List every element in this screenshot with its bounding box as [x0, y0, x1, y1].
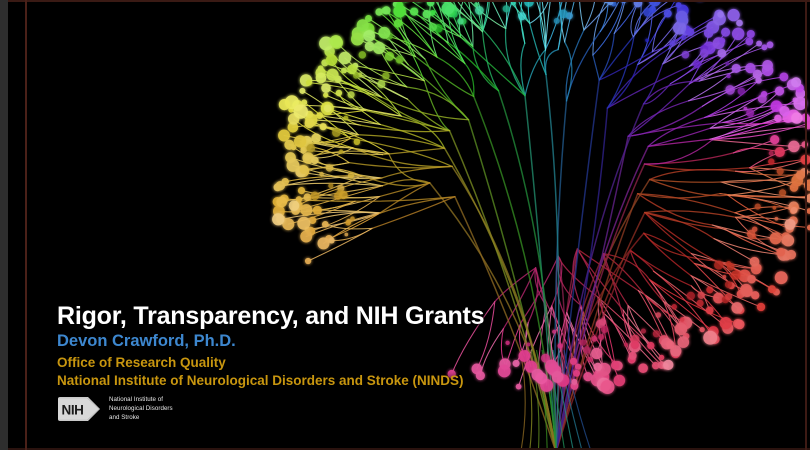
agency-line-1: National Institute of: [109, 396, 173, 405]
page-title: Rigor, Transparency, and NIH Grants: [57, 303, 484, 330]
presenter-name: Devon Crawford, Ph.D.: [57, 332, 484, 351]
nih-logo-icon: NIH: [58, 397, 102, 421]
svg-text:NIH: NIH: [61, 402, 83, 417]
slide-border-left: [25, 0, 27, 450]
affiliation-line-institute: National Institute of Neurological Disor…: [57, 372, 484, 390]
slide-border-right: [805, 0, 807, 450]
presentation-slide: Rigor, Transparency, and NIH Grants Devo…: [0, 0, 810, 450]
window-left-gutter: [0, 0, 8, 450]
nih-logo-lockup: NIH National Institute of Neurological D…: [58, 396, 173, 422]
nih-agency-name: National Institute of Neurological Disor…: [109, 396, 173, 422]
affiliation-line-office: Office of Research Quality: [57, 354, 484, 372]
slide-border-top: [8, 0, 810, 2]
title-block: Rigor, Transparency, and NIH Grants Devo…: [57, 303, 484, 389]
agency-line-3: and Stroke: [109, 414, 173, 423]
agency-line-2: Neurological Disorders: [109, 405, 173, 414]
